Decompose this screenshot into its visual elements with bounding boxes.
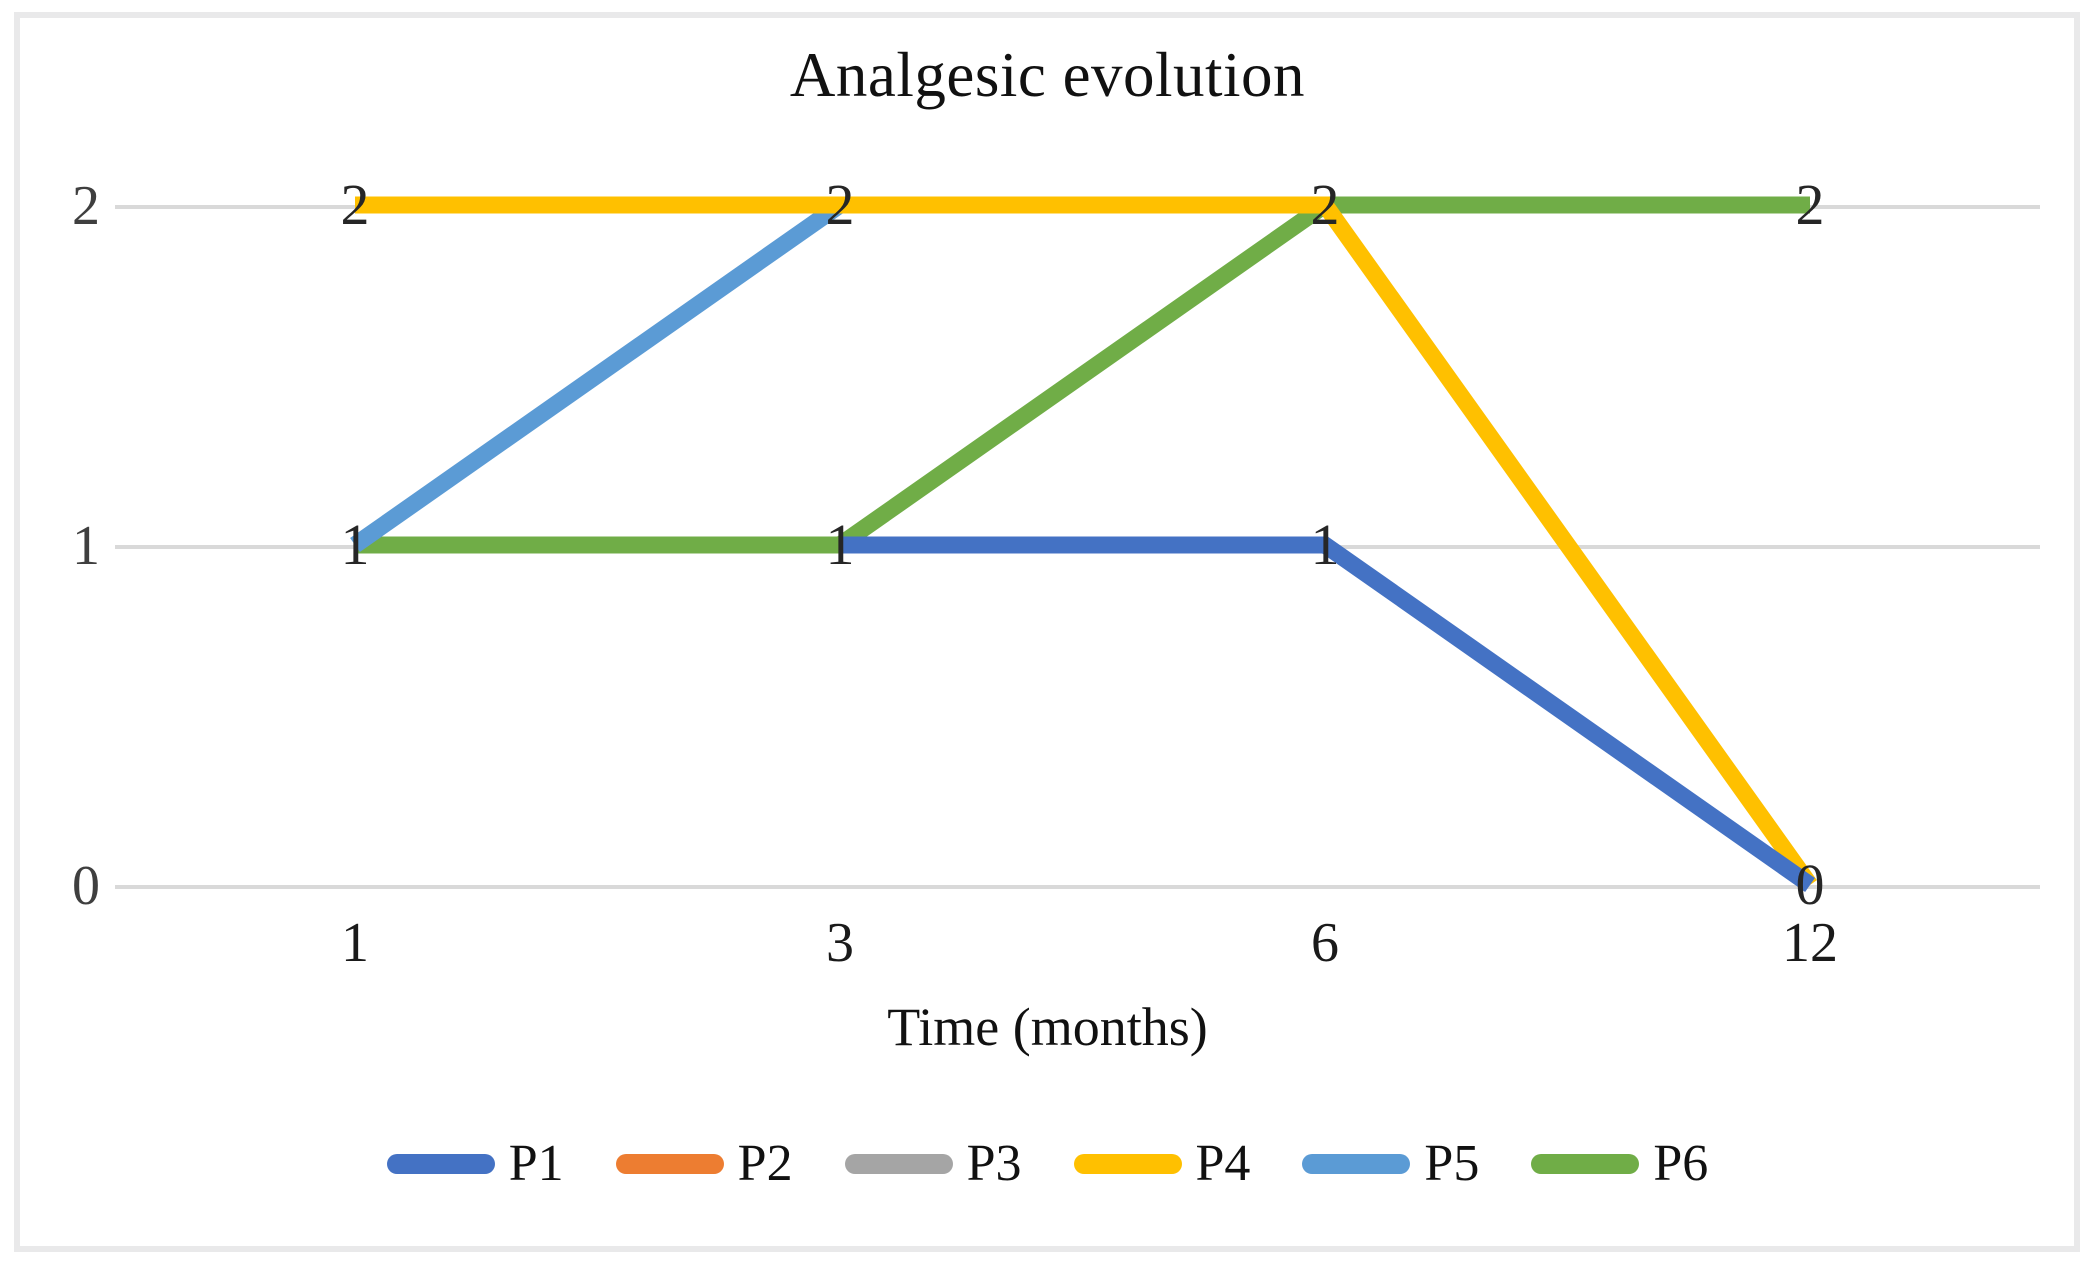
legend-item-p1[interactable]: P1 xyxy=(387,1138,564,1190)
gridline-0 xyxy=(115,885,2040,889)
y-axis-tick-1: 1 xyxy=(10,518,100,574)
point-label-x12-y2: 2 xyxy=(1765,176,1855,234)
plot-area xyxy=(115,205,2040,885)
legend-item-p5[interactable]: P5 xyxy=(1302,1138,1479,1190)
legend-item-p2[interactable]: P2 xyxy=(616,1138,793,1190)
legend-label-p3: P3 xyxy=(967,1138,1022,1190)
chart-legend: P1P2P3P4P5P6 xyxy=(0,1138,2095,1190)
legend-label-p2: P2 xyxy=(738,1138,793,1190)
legend-label-p1: P1 xyxy=(509,1138,564,1190)
legend-swatch-icon-p1 xyxy=(387,1154,495,1174)
y-axis-tick-2: 2 xyxy=(10,178,100,234)
x-axis-tick-6: 6 xyxy=(1245,915,1405,971)
point-label-x3-y2: 2 xyxy=(795,176,885,234)
point-label-x1-y2: 2 xyxy=(310,176,400,234)
series-line-p6 xyxy=(355,205,1810,545)
legend-swatch-icon-p2 xyxy=(616,1154,724,1174)
x-axis-title: Time (months) xyxy=(0,1000,2095,1054)
point-label-x6-y2: 2 xyxy=(1280,176,1370,234)
point-label-x3-y1: 1 xyxy=(795,516,885,574)
series-line-p1 xyxy=(840,545,1810,885)
legend-label-p6: P6 xyxy=(1653,1138,1708,1190)
series-lines xyxy=(115,205,2040,885)
point-label-x1-y1: 1 xyxy=(310,516,400,574)
legend-swatch-icon-p5 xyxy=(1302,1154,1410,1174)
legend-swatch-icon-p3 xyxy=(845,1154,953,1174)
legend-item-p6[interactable]: P6 xyxy=(1531,1138,1708,1190)
point-label-x6-y1: 1 xyxy=(1280,516,1370,574)
legend-item-p4[interactable]: P4 xyxy=(1074,1138,1251,1190)
chart-figure: Analgesic evolution 2 1 0 21212120 1 3 6… xyxy=(0,0,2095,1265)
x-axis-tick-1: 1 xyxy=(275,915,435,971)
chart-title: Analgesic evolution xyxy=(0,44,2095,107)
legend-label-p4: P4 xyxy=(1196,1138,1251,1190)
x-axis-tick-12: 12 xyxy=(1730,915,1890,971)
y-axis-tick-0: 0 xyxy=(10,858,100,914)
legend-label-p5: P5 xyxy=(1424,1138,1479,1190)
series-line-p5 xyxy=(355,205,1325,545)
legend-swatch-icon-p6 xyxy=(1531,1154,1639,1174)
x-axis-tick-3: 3 xyxy=(760,915,920,971)
point-label-x12-y0: 0 xyxy=(1765,856,1855,914)
legend-swatch-icon-p4 xyxy=(1074,1154,1182,1174)
legend-item-p3[interactable]: P3 xyxy=(845,1138,1022,1190)
